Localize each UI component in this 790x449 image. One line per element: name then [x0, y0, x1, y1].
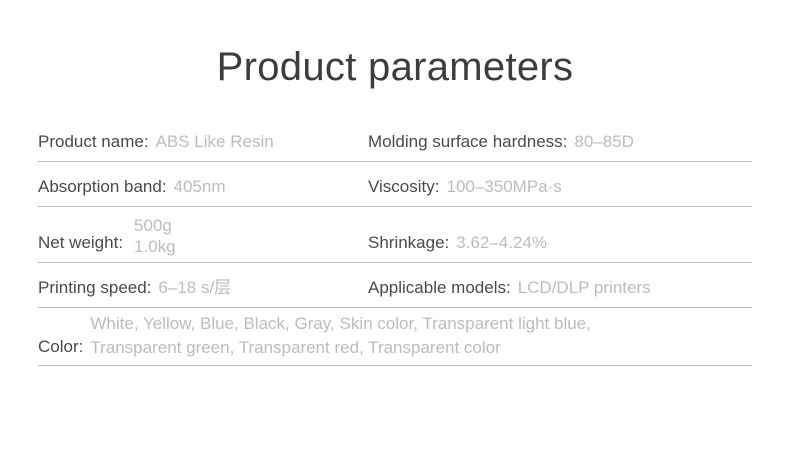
table-row: Absorption band: 405nm Viscosity: 100–35… — [38, 162, 752, 207]
spec-value: 80–85D — [567, 131, 634, 154]
spec-label: Viscosity: — [368, 176, 440, 199]
spec-cell-absorption-band: Absorption band: 405nm — [38, 162, 368, 206]
spec-cell-net-weight: Net weight: 500g 1.0kg — [38, 207, 368, 262]
spec-value-line: Transparent green, Transparent red, Tran… — [90, 336, 591, 361]
spec-value: 3.62–4.24% — [449, 232, 547, 255]
spec-label: Shrinkage: — [368, 232, 449, 255]
spec-cell-color: Color: White, Yellow, Blue, Black, Gray,… — [38, 308, 752, 365]
spec-cell-molding-surface-hardness: Molding surface hardness: 80–85D — [368, 117, 752, 161]
spec-value: ABS Like Resin — [149, 131, 274, 154]
spec-cell-shrinkage: Shrinkage: 3.62–4.24% — [368, 207, 752, 262]
spec-cell-applicable-models: Applicable models: LCD/DLP printers — [368, 263, 752, 307]
spec-label: Absorption band: — [38, 176, 167, 199]
specifications-table: Product name: ABS Like Resin Molding sur… — [38, 89, 752, 366]
spec-value: LCD/DLP printers — [511, 277, 651, 300]
spec-cell-viscosity: Viscosity: 100–350MPa·s — [368, 162, 752, 206]
spec-value-line: 500g — [134, 215, 176, 236]
spec-label: Net weight: — [38, 232, 123, 255]
spec-cell-product-name: Product name: ABS Like Resin — [38, 117, 368, 161]
spec-value: 100–350MPa·s — [440, 176, 562, 199]
product-parameters-page: Product parameters Product name: ABS Lik… — [0, 0, 790, 449]
table-row: Printing speed: 6–18 s/层 Applicable mode… — [38, 263, 752, 308]
spec-label: Color: — [38, 336, 83, 359]
page-title: Product parameters — [0, 0, 790, 89]
table-row: Net weight: 500g 1.0kg Shrinkage: 3.62–4… — [38, 207, 752, 263]
table-row: Product name: ABS Like Resin Molding sur… — [38, 117, 752, 162]
spec-value: 405nm — [167, 176, 226, 199]
spec-label: Molding surface hardness: — [368, 131, 567, 154]
table-row: Color: White, Yellow, Blue, Black, Gray,… — [38, 308, 752, 366]
spec-value: 500g 1.0kg — [123, 215, 176, 258]
spec-label: Printing speed: — [38, 277, 151, 300]
spec-value-line: White, Yellow, Blue, Black, Gray, Skin c… — [90, 312, 591, 337]
spec-label: Applicable models: — [368, 277, 511, 300]
spec-label: Product name: — [38, 131, 149, 154]
spec-cell-printing-speed: Printing speed: 6–18 s/层 — [38, 263, 368, 307]
spec-value: 6–18 s/层 — [151, 277, 231, 300]
spec-value-line: 1.0kg — [134, 236, 176, 257]
spec-value: White, Yellow, Blue, Black, Gray, Skin c… — [83, 312, 591, 361]
